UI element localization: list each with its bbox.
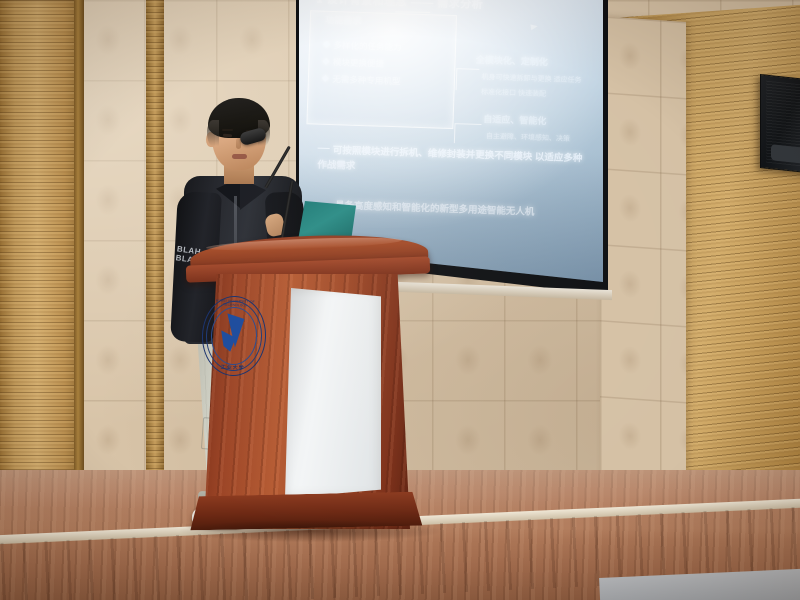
slide-section-item: 自主避障、环境感知、决策 <box>486 131 570 144</box>
slide-section-heading: 自适应、智能化 <box>483 112 546 127</box>
slide-title: 1 设计背景和理念 —— 需求分析 <box>316 0 483 12</box>
slide-section-item: 机身可快速拆卸与更换 适应任务 <box>481 72 581 85</box>
slide-panel-label: 功能需求 <box>325 12 361 26</box>
presentation-scene: 1 设计背景和理念 —— 需求分析 功能需求 多样化的任务能力 模块更换便捷 <box>0 0 800 600</box>
slide-bullet-list: 多样化的任务能力 模块更换便捷 无需多种专用机型 <box>323 39 451 94</box>
wall-wood-slats-left <box>0 0 83 478</box>
wall-tile-pillar-right <box>600 16 686 522</box>
podium-floor-shadow <box>180 520 440 542</box>
slide-bullet-label: 模块更换便捷 <box>333 56 384 70</box>
wall-speaker <box>760 74 800 174</box>
note-dash <box>318 148 330 149</box>
university-emblem-icon: HUBEI UNIVERSITY OF TECHNOLOGY 工业大学 <box>200 295 267 378</box>
diamond-bullet-icon <box>323 58 330 65</box>
slide-footer: 具备高度感知和智能化的新型多用途智能无人机 <box>335 197 601 220</box>
podium-panel-shading <box>281 288 381 498</box>
slide-section-heading: 全模块化、定制化 <box>476 53 548 68</box>
slide-bullet-label: 多样化的任务能力 <box>333 39 401 53</box>
hair-fade-left <box>207 120 219 146</box>
slide-connector-line <box>454 124 481 144</box>
slide-bullet: 模块更换便捷 <box>324 56 451 72</box>
mouth <box>232 154 247 159</box>
airplane-icon <box>530 23 538 30</box>
slide-connector-line <box>456 68 480 91</box>
diamond-bullet-icon <box>323 41 330 48</box>
slide-section-item: 标准化接口 快速装配 <box>481 87 546 99</box>
slide-bullet-label: 无需多种专用机型 <box>332 73 400 87</box>
diamond-bullet-icon <box>322 75 329 82</box>
slide-bullet: 无需多种专用机型 <box>323 73 450 89</box>
slide-note-text: 可按照模块进行拆机、维修封装并更换不同模块 以适应多种作战需求 <box>317 145 582 171</box>
wall-wood-edge-left <box>74 0 84 478</box>
emblem-bottom-text: 工业大学 <box>201 363 265 373</box>
wall-wood-strip <box>146 0 164 470</box>
eyebrow-left <box>222 129 233 131</box>
slide-note: 可按照模块进行拆机、维修封装并更换不同模块 以适应多种作战需求 <box>317 144 590 182</box>
eye-left <box>223 134 232 138</box>
podium: HUBEI UNIVERSITY OF TECHNOLOGY 工业大学 <box>180 236 430 536</box>
